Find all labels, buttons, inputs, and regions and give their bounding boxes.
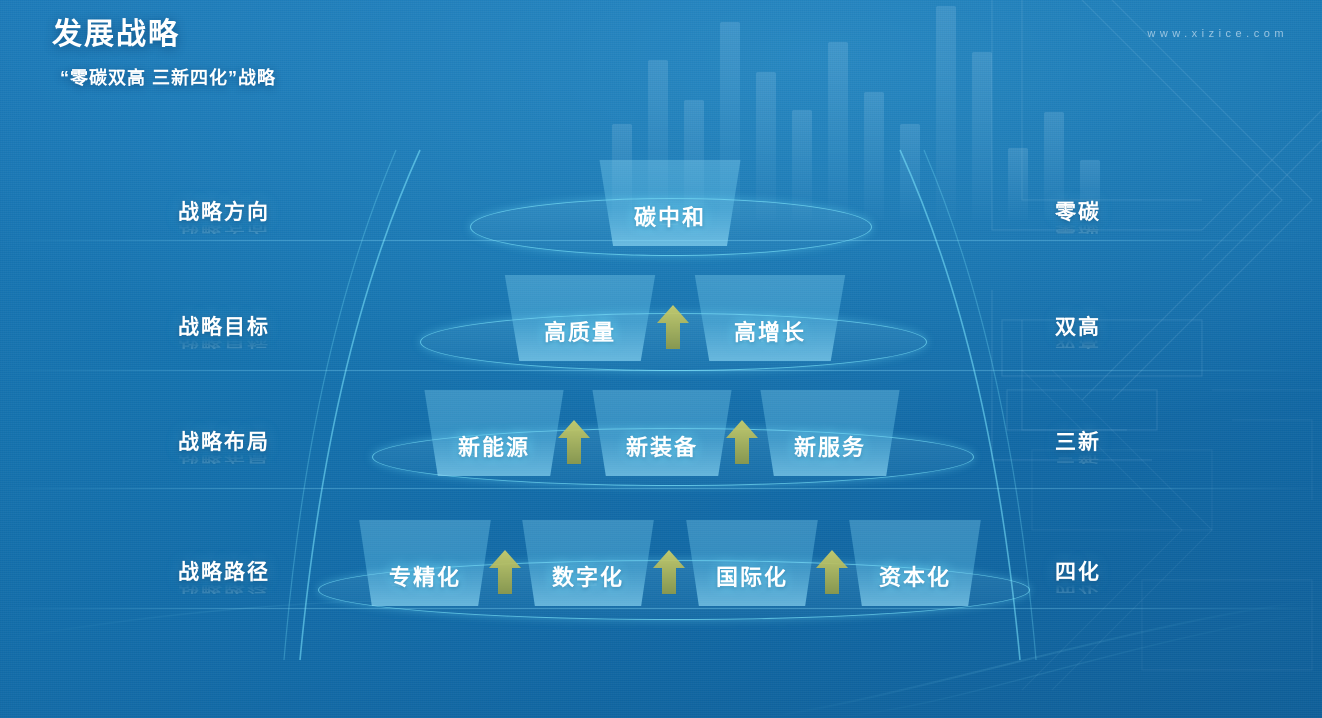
tier-4-cells: 专精化 专精化 数字化 数字化 bbox=[0, 520, 1322, 632]
tier-2-item-1-label: 高增长 高增长 bbox=[734, 315, 806, 361]
tier-4-item-2-label: 国际化 国际化 bbox=[716, 560, 788, 606]
tier-4-item-1-label: 数字化 数字化 bbox=[552, 560, 624, 606]
tier-2-item-1[interactable]: 高增长 高增长 bbox=[690, 275, 850, 361]
tier-4-item-3-label: 资本化 资本化 bbox=[879, 560, 951, 606]
tier-4-item-3[interactable]: 资本化 资本化 bbox=[845, 520, 985, 606]
arrow-up-icon bbox=[652, 548, 686, 596]
tier-4: 战略路径 战略路径 四化 四化 专精化 专精化 bbox=[0, 550, 1322, 670]
arrow-up-icon bbox=[656, 303, 690, 351]
tier-2-cells: 高质量 高质量 高增长 高增长 bbox=[0, 275, 1322, 387]
tier-3-item-0[interactable]: 新能源 新能源 bbox=[420, 390, 568, 476]
tier-1-item-0[interactable]: 碳中和 碳中和 bbox=[595, 160, 745, 246]
tier-4-item-0-label: 专精化 专精化 bbox=[389, 560, 461, 606]
arrow-up-icon bbox=[815, 548, 849, 596]
tier-3-item-1-label: 新装备 新装备 bbox=[626, 430, 698, 476]
arrow-up-icon bbox=[725, 418, 759, 466]
tier-3-item-0-label: 新能源 新能源 bbox=[458, 430, 530, 476]
tier-2-item-0-label: 高质量 高质量 bbox=[544, 315, 616, 361]
page-subtitle: “零碳双高 三新四化”战略 bbox=[60, 64, 276, 90]
strategy-funnel-diagram: 战略方向 战略方向 零碳 零碳 碳中和 碳中和 战略目标 战略目标 双高 双高 bbox=[0, 0, 1322, 718]
tier-4-item-1[interactable]: 数字化 数字化 bbox=[518, 520, 658, 606]
arrow-up-icon bbox=[557, 418, 591, 466]
arrow-up-icon bbox=[488, 548, 522, 596]
header: 发展战略 “零碳双高 三新四化”战略 bbox=[52, 16, 276, 90]
watermark: www.xizice.com bbox=[1147, 28, 1288, 40]
tier-4-item-0[interactable]: 专精化 专精化 bbox=[355, 520, 495, 606]
tier-2-item-0[interactable]: 高质量 高质量 bbox=[500, 275, 660, 361]
tier-1-item-0-label: 碳中和 碳中和 bbox=[634, 200, 706, 246]
tier-3-item-2[interactable]: 新服务 新服务 bbox=[756, 390, 904, 476]
tier-1-cells: 碳中和 碳中和 bbox=[0, 160, 1322, 272]
tier-3-item-1[interactable]: 新装备 新装备 bbox=[588, 390, 736, 476]
tier-4-item-2[interactable]: 国际化 国际化 bbox=[682, 520, 822, 606]
tier-3-cells: 新能源 新能源 新装备 新装备 bbox=[0, 390, 1322, 502]
page-title: 发展战略 bbox=[52, 16, 276, 54]
tier-3-item-2-label: 新服务 新服务 bbox=[794, 430, 866, 476]
